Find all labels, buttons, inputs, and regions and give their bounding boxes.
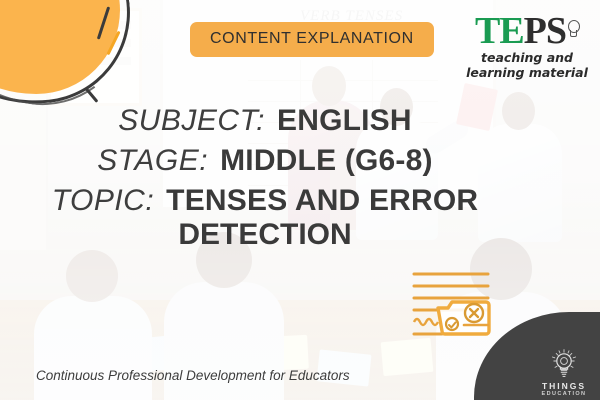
subject-label: SUBJECT: bbox=[118, 104, 265, 138]
footer-tagline: Continuous Professional Development for … bbox=[36, 368, 350, 383]
topic-value: TENSES AND ERROR bbox=[166, 184, 478, 218]
slide-root: VERB TENSES CONTENT EXPLANATION bbox=[0, 0, 600, 400]
lightbulb-icon bbox=[549, 348, 579, 380]
proofreading-document-icon bbox=[408, 268, 500, 340]
teps-wordmark-dark: PS bbox=[524, 10, 566, 52]
teps-tagline-line2: learning material bbox=[466, 66, 588, 81]
field-list: SUBJECT: ENGLISH STAGE: MIDDLE (G6-8) TO… bbox=[0, 104, 530, 252]
teps-tagline: teaching and learning material bbox=[466, 51, 588, 81]
content-explanation-badge: CONTENT EXPLANATION bbox=[190, 22, 434, 57]
things-education-logo: THINGS EDUCATION bbox=[536, 348, 592, 397]
teps-logo: TEPS teaching and learning material bbox=[466, 12, 588, 81]
field-row-topic-continued: DETECTION bbox=[0, 218, 530, 252]
subject-value: ENGLISH bbox=[277, 104, 412, 138]
topic-label: TOPIC: bbox=[52, 184, 154, 218]
field-row-stage: STAGE: MIDDLE (G6-8) bbox=[0, 144, 530, 178]
teps-wordmark-green: TE bbox=[475, 10, 524, 52]
teps-wordmark: TEPS bbox=[466, 12, 588, 50]
stage-value: MIDDLE (G6-8) bbox=[220, 144, 433, 178]
stage-label: STAGE: bbox=[97, 144, 208, 178]
teps-tagline-line1: teaching and bbox=[466, 51, 588, 66]
topic-value-line2: DETECTION bbox=[178, 218, 351, 252]
things-education-sub: EDUCATION bbox=[536, 391, 592, 397]
field-row-topic: TOPIC: TENSES AND ERROR bbox=[0, 184, 530, 218]
lightbulb-icon bbox=[567, 20, 579, 37]
field-row-subject: SUBJECT: ENGLISH bbox=[0, 104, 530, 138]
things-education-name: THINGS bbox=[536, 382, 592, 391]
